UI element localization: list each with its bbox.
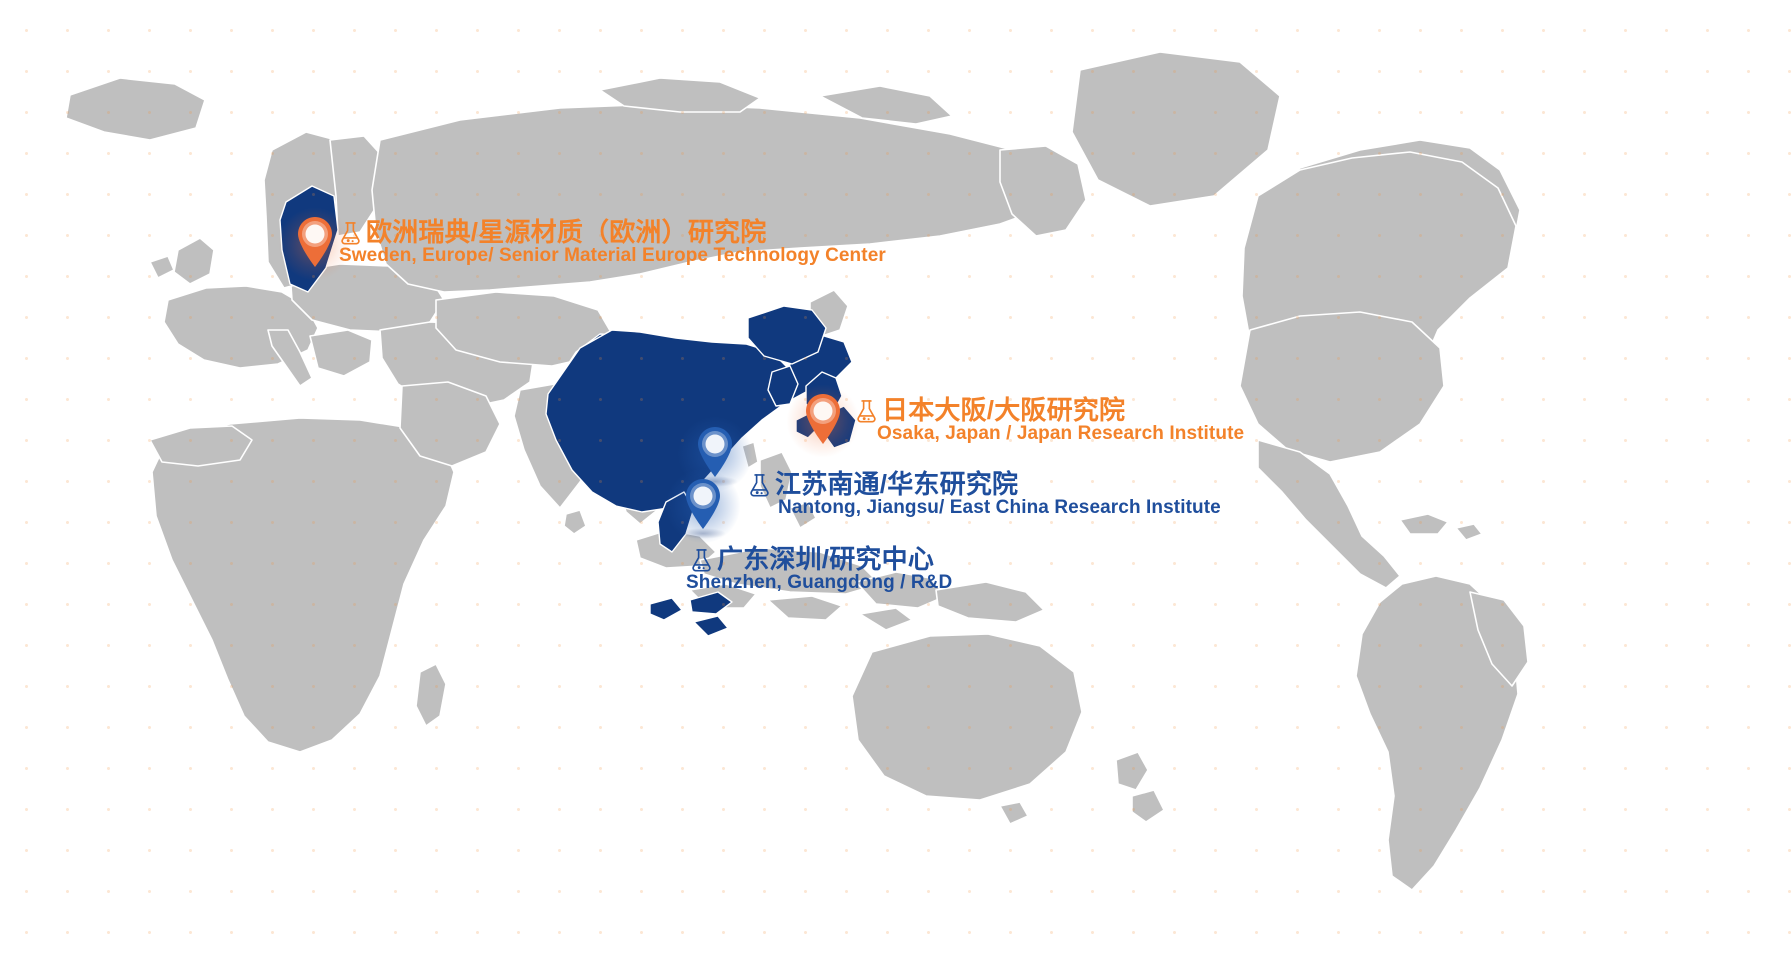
world-map-infographic: 欧洲瑞典/星源材质（欧洲）研究院 Sweden, Europe/ Senior … xyxy=(0,0,1792,970)
location-label-nantong[interactable]: 江苏南通/华东研究院 Nantong, Jiangsu/ East China … xyxy=(748,470,1221,519)
label-line-cn-nantong: 江苏南通/华东研究院 xyxy=(748,470,1221,498)
label-line-cn-osaka: 日本大阪/大阪研究院 xyxy=(855,396,1244,424)
location-label-osaka[interactable]: 日本大阪/大阪研究院 Osaka, Japan / Japan Research… xyxy=(855,396,1244,445)
map-pin-osaka[interactable] xyxy=(803,392,843,446)
pin-shadow xyxy=(680,528,726,539)
label-text-en-osaka: Osaka, Japan / Japan Research Institute xyxy=(877,424,1244,445)
flask-icon xyxy=(748,473,771,498)
label-text-cn: 广东深圳/研究中心 xyxy=(717,545,934,573)
flask-icon xyxy=(855,399,878,424)
location-label-sweden[interactable]: 欧洲瑞典/星源材质（欧洲）研究院 Sweden, Europe/ Senior … xyxy=(339,218,886,267)
label-text-cn: 日本大阪/大阪研究院 xyxy=(882,396,1125,424)
label-line-cn-shenzhen: 广东深圳/研究中心 xyxy=(690,545,952,573)
flask-icon xyxy=(339,221,362,246)
map-pin-sweden[interactable] xyxy=(295,215,335,269)
map-pin-icon xyxy=(295,215,335,269)
label-text-cn: 欧洲瑞典/星源材质（欧洲）研究院 xyxy=(366,218,766,246)
label-line-cn-sweden: 欧洲瑞典/星源材质（欧洲）研究院 xyxy=(339,218,886,246)
map-pin-icon xyxy=(803,392,843,446)
label-text-en-sweden: Sweden, Europe/ Senior Material Europe T… xyxy=(339,246,886,267)
map-pin-icon xyxy=(683,477,723,531)
label-text-cn: 江苏南通/华东研究院 xyxy=(775,470,1018,498)
flask-icon xyxy=(690,548,713,573)
label-text-en-shenzhen: Shenzhen, Guangdong / R&D xyxy=(686,573,952,594)
label-text-en-nantong: Nantong, Jiangsu/ East China Research In… xyxy=(778,498,1221,519)
location-label-shenzhen[interactable]: 广东深圳/研究中心 Shenzhen, Guangdong / R&D xyxy=(690,545,952,594)
map-pin-shenzhen[interactable] xyxy=(683,477,723,531)
